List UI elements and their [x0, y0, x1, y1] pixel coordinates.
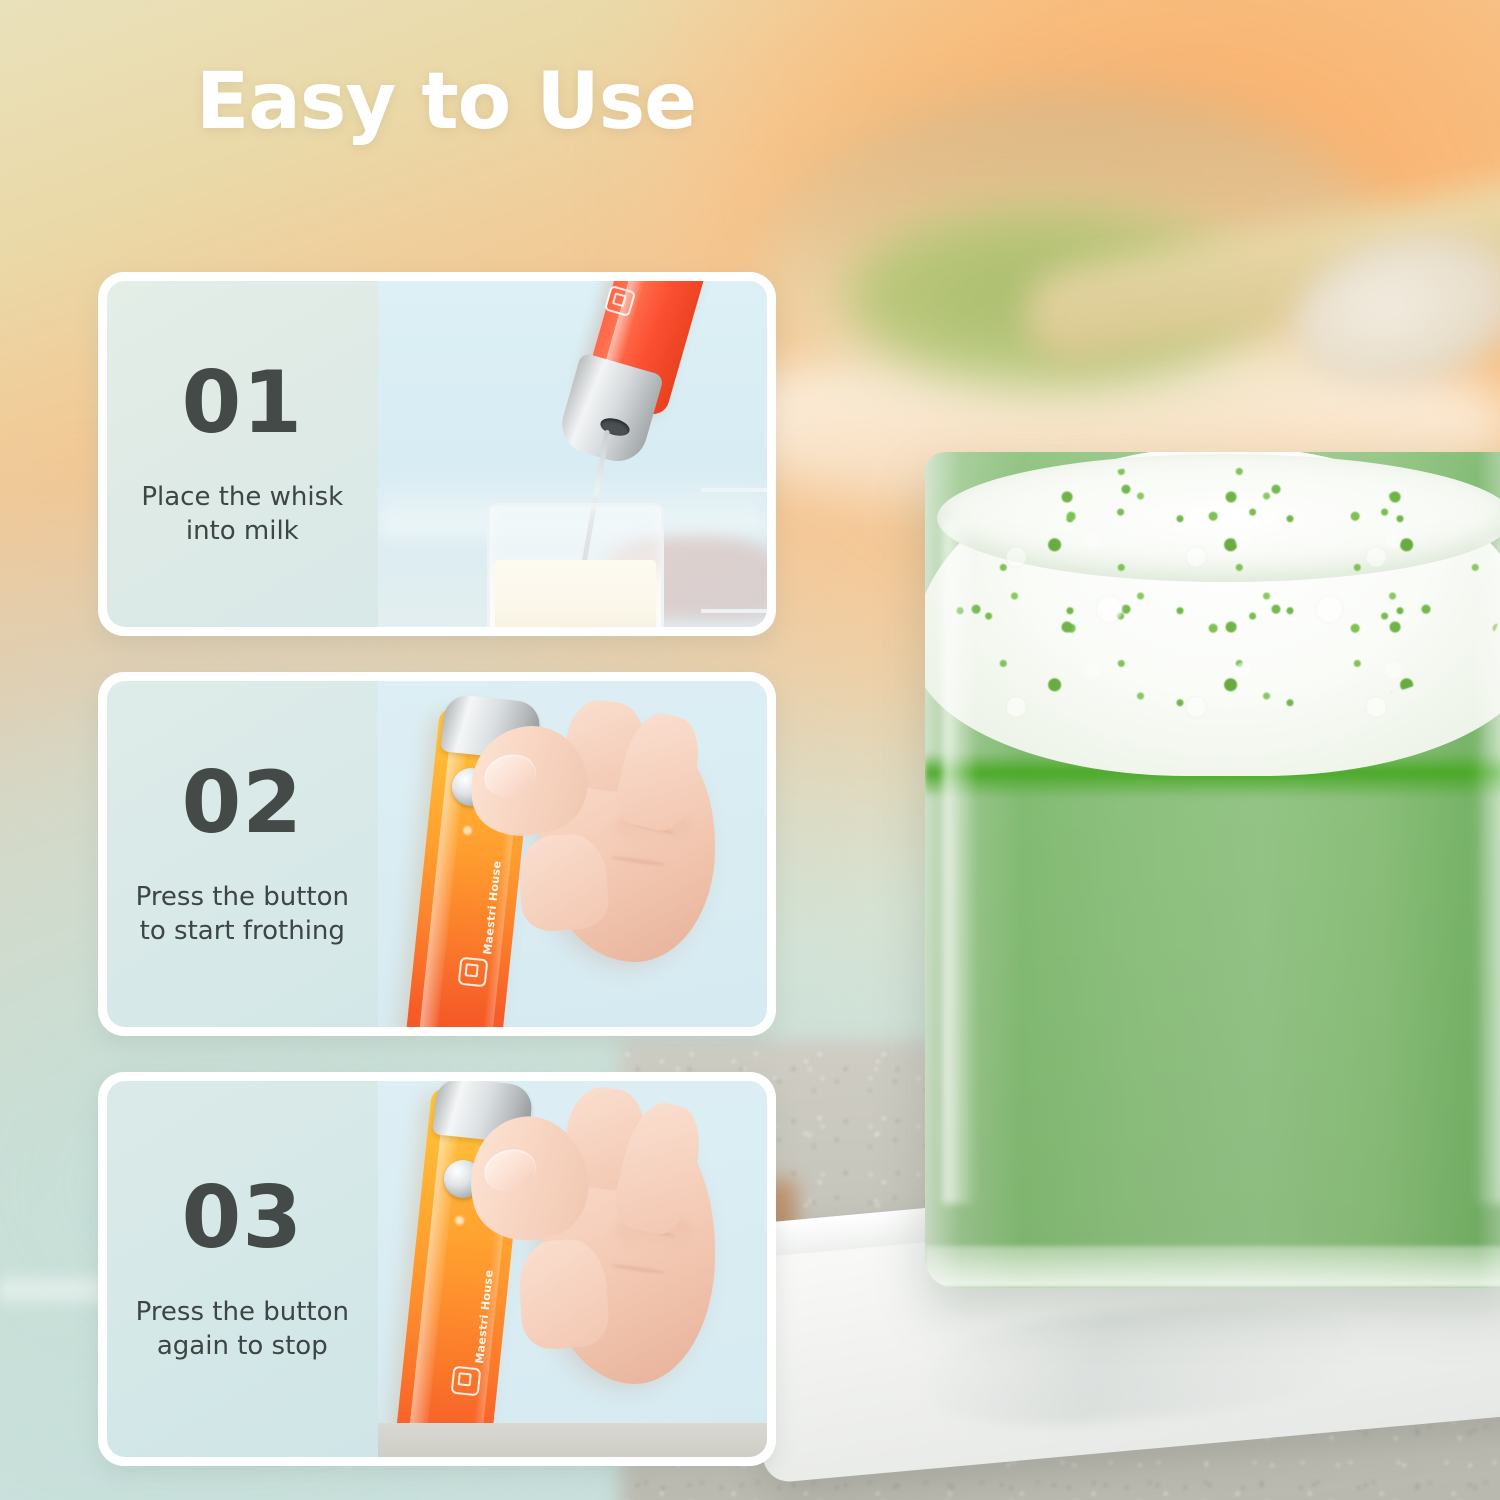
- step-text-panel: 01 Place the whisk into milk: [107, 281, 378, 627]
- step-number: 03: [181, 1175, 303, 1261]
- foam-bubbles: [973, 512, 1477, 722]
- milk-liquid: [495, 560, 656, 627]
- brand-logo-icon: [450, 1365, 481, 1396]
- hand: [479, 695, 736, 1013]
- glass-highlight-right: [1471, 536, 1500, 1205]
- skin-crease: [610, 855, 666, 867]
- step-photo-01: [378, 281, 767, 627]
- step-text-panel: 02 Press the button to start frothing: [107, 681, 378, 1027]
- glass-highlight-left: [943, 519, 977, 1205]
- step-description: Press the button again to stop: [136, 1295, 349, 1364]
- step-number: 02: [181, 760, 303, 846]
- milk-glass: [487, 503, 664, 627]
- step-card-03: 03 Press the button again to stop Maestr…: [98, 1072, 776, 1466]
- matcha-latte-glass: [925, 452, 1500, 1288]
- step-description: Place the whisk into milk: [141, 480, 343, 549]
- step-description: Press the button to start frothing: [136, 880, 349, 949]
- step-card-02: 02 Press the button to start frothing Ma…: [98, 672, 776, 1036]
- milk-glass-handle: [701, 488, 767, 614]
- step-text-panel: 03 Press the button again to stop: [107, 1081, 378, 1457]
- glass-base: [925, 1246, 1500, 1288]
- step-number: 01: [181, 360, 303, 446]
- hand: [479, 1081, 736, 1442]
- page-title: Easy to Use: [196, 62, 696, 144]
- step-photo-02: Maestri House: [378, 681, 767, 1027]
- step-photo-03: Maestri House: [378, 1081, 767, 1457]
- step-card-inner: 01 Place the whisk into milk: [107, 281, 767, 627]
- skin-crease: [610, 1263, 666, 1275]
- marketing-image: Easy to Use 01 Place the whisk into milk: [0, 0, 1500, 1500]
- photo-countertop: [378, 1423, 767, 1457]
- tray-vein: [922, 1290, 1360, 1439]
- step-card-01: 01 Place the whisk into milk: [98, 272, 776, 636]
- step-card-inner: 03 Press the button again to stop Maestr…: [107, 1081, 767, 1457]
- step-card-inner: 02 Press the button to start frothing Ma…: [107, 681, 767, 1027]
